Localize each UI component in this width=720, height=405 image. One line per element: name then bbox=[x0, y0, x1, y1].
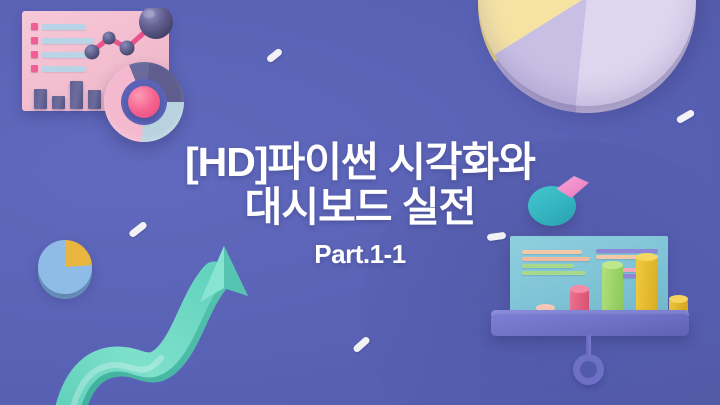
legend-bar bbox=[42, 66, 86, 72]
legend-row bbox=[31, 23, 86, 30]
legend-marker-icon bbox=[31, 23, 38, 30]
bar bbox=[52, 96, 65, 109]
card-bar-chart bbox=[34, 75, 104, 109]
bar bbox=[34, 89, 47, 109]
bar bbox=[88, 90, 101, 109]
board-text-line bbox=[522, 271, 586, 275]
title-block: [HD]파이썬 시각화와 대시보드 실전 Part.1-1 bbox=[0, 142, 720, 270]
top-left-dashboard-illustration bbox=[12, 2, 202, 147]
legend-marker-icon bbox=[31, 37, 38, 44]
top-right-pie-illustration bbox=[478, 0, 718, 128]
bar-cap bbox=[669, 295, 688, 303]
bar-cap bbox=[570, 285, 589, 293]
board-bar bbox=[602, 265, 623, 316]
title-line-2: 대시보드 실전 bbox=[0, 187, 720, 228]
legend-marker-icon bbox=[31, 65, 38, 72]
legend-marker-icon bbox=[31, 51, 38, 58]
board-base bbox=[491, 314, 689, 336]
legend-bar bbox=[42, 24, 86, 30]
subtitle: Part.1-1 bbox=[0, 239, 720, 270]
card-donut-chart bbox=[104, 62, 184, 142]
donut-center bbox=[128, 86, 160, 118]
board-ring bbox=[573, 354, 604, 385]
bar bbox=[70, 81, 83, 109]
legend-row bbox=[31, 65, 86, 72]
presentation-slide: [HD]파이썬 시각화와 대시보드 실전 Part.1-1 bbox=[0, 0, 720, 405]
title-line-1: [HD]파이썬 시각화와 bbox=[0, 142, 720, 183]
card-node-line-chart bbox=[82, 8, 197, 68]
